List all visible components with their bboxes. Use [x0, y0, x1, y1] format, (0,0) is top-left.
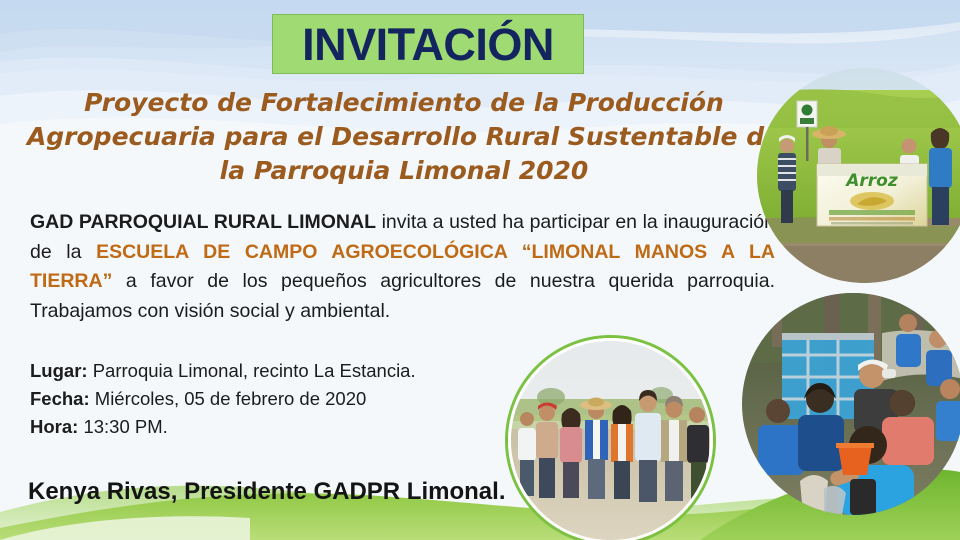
- water-tank-workshop-photo: [742, 293, 960, 515]
- invitation-badge: INVITACIÓN: [272, 14, 584, 74]
- invitation-poster: INVITACIÓN Proyecto de Fortalecimiento d…: [0, 0, 960, 540]
- page-title-line-3: la Parroquia Limonal 2020: [24, 154, 784, 188]
- detail-row-fecha: Fecha: Miércoles, 05 de febrero de 2020: [30, 385, 500, 413]
- detail-value-hora: 13:30 PM.: [78, 416, 167, 437]
- body-block: GAD PARROQUIAL RURAL LIMONAL invita a us…: [30, 208, 775, 327]
- detail-row-lugar: Lugar: Parroquia Limonal, recinto La Est…: [30, 357, 500, 385]
- page-title-line-1: Proyecto de Fortalecimiento de la Produc…: [24, 86, 784, 120]
- rice-field-banner-photo: Arroz: [757, 68, 960, 283]
- invitation-badge-label: INVITACIÓN: [302, 22, 554, 67]
- page-title: Proyecto de Fortalecimiento de la Produc…: [24, 86, 784, 187]
- body-paragraph: GAD PARROQUIAL RURAL LIMONAL invita a us…: [30, 208, 775, 327]
- detail-value-fecha: Miércoles, 05 de febrero de 2020: [90, 388, 367, 409]
- detail-label-fecha: Fecha:: [30, 388, 90, 409]
- event-details: Lugar: Parroquia Limonal, recinto La Est…: [30, 357, 500, 441]
- svg-text:Arroz: Arroz: [844, 171, 898, 191]
- farmers-group-photo: [508, 338, 713, 540]
- hill-front-left: [0, 516, 250, 540]
- detail-row-hora: Hora: 13:30 PM.: [30, 413, 500, 441]
- organization-name: GAD PARROQUIAL RURAL LIMONAL: [30, 211, 376, 233]
- detail-label-hora: Hora:: [30, 416, 78, 437]
- page-title-line-2: Agropecuaria para el Desarrollo Rural Su…: [24, 120, 784, 154]
- detail-value-lugar: Parroquia Limonal, recinto La Estancia.: [88, 360, 416, 381]
- signature-line: Kenya Rivas, Presidente GADPR Limonal.: [28, 478, 505, 506]
- body-text-part-2: a favor de los pequeños agricultores de …: [30, 270, 775, 322]
- detail-label-lugar: Lugar:: [30, 360, 88, 381]
